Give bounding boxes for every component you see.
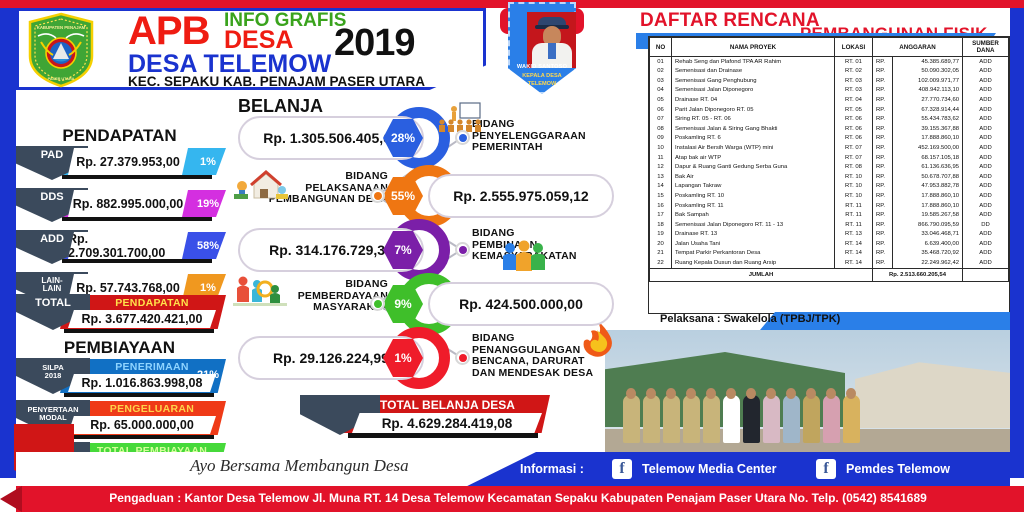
plan-table-row: 08Semenisasi Jalan & Siring Gang BhaktiR…	[650, 124, 1009, 134]
cell-rp: RP.	[873, 115, 893, 125]
staff-photo	[605, 330, 1010, 455]
cell-sumber: ADD	[963, 95, 1009, 105]
plan-table-row: 06Parit Jalan Diponegoro RT. 05RT. 05RP.…	[650, 105, 1009, 115]
total-shadow	[64, 329, 214, 333]
cell-no: 02	[650, 67, 672, 77]
cell-anggaran: 17.888.860,10	[893, 191, 963, 201]
cell-sumber: ADD	[963, 191, 1009, 201]
belanja-title: BELANJA	[238, 96, 323, 117]
photo-person-head	[766, 388, 776, 399]
village-head-role-line2: TELEMOW	[500, 80, 584, 88]
cell-sumber: ADD	[963, 211, 1009, 221]
cell-nama: Drainase RT. 04	[672, 95, 835, 105]
plan-table-row: 05Drainase RT. 04RT. 04RP.27.770.734,60A…	[650, 95, 1009, 105]
pendapatan-total-row: TOTALPENDAPATANRp. 3.677.420.421,00	[16, 294, 226, 334]
plan-table-row: 02Semenisasi dan DrainaseRT. 02RP.50.090…	[650, 67, 1009, 77]
cell-lokasi: RT. 02	[835, 67, 873, 77]
total-value: Rp. 3.677.420.421,00	[68, 310, 216, 328]
cell-no: 07	[650, 115, 672, 125]
cell-lokasi: RT. 10	[835, 191, 873, 201]
plan-table-row: 13Bak AirRT. 10RP.50.678.707,88ADD	[650, 172, 1009, 182]
cell-anggaran: 55.434.783,62	[893, 115, 963, 125]
plan-table-sum-row: JUMLAHRp. 2.513.660.205,54	[650, 269, 1009, 282]
plan-table-row: 10Instalasi Air Bersih Warga (WTP) miniR…	[650, 143, 1009, 153]
col-lokasi: LOKASI	[835, 38, 873, 57]
cell-no: 10	[650, 143, 672, 153]
cell-lokasi: RT. 01	[835, 57, 873, 67]
belanja-label: BIDANGPENYELENGGARAANPEMERINTAH	[472, 119, 612, 154]
cell-no: 21	[650, 249, 672, 259]
photo-person-head	[746, 388, 756, 399]
cell-sumber: ADD	[963, 182, 1009, 192]
cell-sumber: ADD	[963, 230, 1009, 240]
left-blue-border	[0, 8, 16, 478]
cell-no: 04	[650, 86, 672, 96]
cell-rp: RP.	[873, 95, 893, 105]
photo-person	[743, 395, 760, 443]
cell-anggaran: 102.009.971,77	[893, 76, 963, 86]
cell-nama: Ruang Kepala Dusun dan Ruang Arsip	[672, 258, 835, 268]
cell-anggaran: 50.090.302,05	[893, 67, 963, 77]
plan-table-row: 04Semenisasi Jalan DiponegoroRT. 03RP.40…	[650, 86, 1009, 96]
cell-nama: Rehab Seng dan Plafond TPA AR Rahim	[672, 57, 835, 67]
cell-nama: Siring RT. 05 - RT. 06	[672, 115, 835, 125]
plan-table-row: 01Rehab Seng dan Plafond TPA AR RahimRT.…	[650, 57, 1009, 67]
village-head-role: KEPALA DESA TELEMOW	[500, 72, 584, 88]
total-belanja-banner: TOTAL BELANJA DESA Rp. 4.629.284.419,08	[300, 395, 550, 441]
photo-person	[843, 395, 860, 443]
cell-lokasi: RT. 11	[835, 211, 873, 221]
cell-sumber: ADD	[963, 249, 1009, 259]
cell-anggaran: 67.328.914,44	[893, 105, 963, 115]
plan-table-body: 01Rehab Seng dan Plafond TPA AR RahimRT.…	[650, 57, 1009, 282]
cell-rp: RP.	[873, 105, 893, 115]
plan-table-row: 03Semenisasi Gang PenghubungRT. 03RP.102…	[650, 76, 1009, 86]
cell-anggaran: 35.468.720,92	[893, 249, 963, 259]
title-group: APB INFO GRAFIS DESA 2019 DESA TELEMOW K…	[108, 8, 483, 88]
cell-nama: Lapangan Takraw	[672, 182, 835, 192]
facebook-page-2[interactable]: Pemdes Telemow	[846, 462, 950, 476]
title-apb: APB	[128, 9, 209, 54]
cell-lokasi: RT. 07	[835, 153, 873, 163]
cell-no: 05	[650, 95, 672, 105]
cell-nama: Atap bak air WTP	[672, 153, 835, 163]
cell-lokasi: RT. 10	[835, 182, 873, 192]
cell-rp: RP.	[873, 201, 893, 211]
photo-person-head	[786, 388, 796, 399]
photo-person-head	[826, 388, 836, 399]
cell-lokasi: RT. 06	[835, 124, 873, 134]
cell-no: 22	[650, 258, 672, 268]
plan-table-row: 21Tempat Parkir Perkantoran DesaRT. 14RP…	[650, 249, 1009, 259]
cell-sumber: ADD	[963, 143, 1009, 153]
cell-sumber: ADD	[963, 163, 1009, 173]
cell-no: 12	[650, 163, 672, 173]
cell-anggaran: 866.790.095,59	[893, 220, 963, 230]
title-year: 2019	[334, 22, 415, 65]
total-belanja-shadow	[348, 433, 538, 438]
cell-lokasi: RT. 07	[835, 143, 873, 153]
photo-person	[803, 395, 820, 443]
infographic-page: KABUPATEN PENAJAM PASER UTARA APB INFO G…	[0, 0, 1024, 512]
plan-table-row: 12Dapur & Ruang Ganti Gedung Serba GunaR…	[650, 163, 1009, 173]
right-blue-border	[1010, 8, 1024, 478]
photo-person-head	[666, 388, 676, 399]
cell-no: 14	[650, 182, 672, 192]
cell-lokasi: RT. 14	[835, 258, 873, 268]
facebook-icon-2[interactable]: f	[816, 459, 836, 479]
cell-rp: RP.	[873, 182, 893, 192]
plan-table-row: 18Semenisasi Jalan Diponegoro RT. 11 - 1…	[650, 220, 1009, 230]
cell-nama: Dapur & Ruang Ganti Gedung Serba Guna	[672, 163, 835, 173]
cell-anggaran: 50.678.707,88	[893, 172, 963, 182]
cell-lokasi: RT. 11	[835, 220, 873, 230]
cell-rp: RP.	[873, 258, 893, 268]
pendapatan-title: PENDAPATAN	[12, 126, 227, 146]
empowerment-icon	[231, 272, 289, 313]
plan-table-row: 20Jalan Usaha TaniRT. 14RP.6.639.400,00A…	[650, 239, 1009, 249]
cell-nama: Semenisasi Gang Penghubung	[672, 76, 835, 86]
cell-no: 06	[650, 105, 672, 115]
belanja-amount: Rp. 424.500.000,00	[428, 282, 614, 326]
village-head-photo	[527, 12, 577, 68]
facebook-page-1[interactable]: Telemow Media Center	[642, 462, 777, 476]
belanja-node	[455, 130, 470, 145]
village-head-name: WAKID SANTOSO	[500, 64, 584, 70]
plan-table: NO NAMA PROYEK LOKASI ANGGARAN SUMBER DA…	[649, 37, 1009, 282]
sum-label: JUMLAH	[650, 269, 873, 282]
row-shadow	[62, 217, 212, 221]
facebook-icon-1[interactable]: f	[612, 459, 632, 479]
row-percent: 21%	[192, 366, 224, 384]
cell-rp: RP.	[873, 230, 893, 240]
photo-person	[723, 395, 740, 443]
svg-text:PASER UTARA: PASER UTARA	[48, 77, 75, 81]
cell-lokasi: RT. 03	[835, 76, 873, 86]
cell-nama: Tempat Parkir Perkantoran Desa	[672, 249, 835, 259]
cell-no: 13	[650, 172, 672, 182]
plan-table-row: 07Siring RT. 05 - RT. 06RT. 06RP.55.434.…	[650, 115, 1009, 125]
cell-lokasi: RT. 04	[835, 95, 873, 105]
cell-anggaran: 17.888.860,10	[893, 134, 963, 144]
belanja-node	[370, 188, 385, 203]
cell-rp: RP.	[873, 191, 893, 201]
cell-no: 11	[650, 153, 672, 163]
construction-icon	[232, 168, 290, 207]
cell-lokasi: RT. 11	[835, 201, 873, 211]
plan-table-row: 09Poskamling RT. 6RT. 06RP.17.888.860,10…	[650, 134, 1009, 144]
cell-rp: RP.	[873, 220, 893, 230]
plan-table-header-row: NO NAMA PROYEK LOKASI ANGGARAN SUMBER DA…	[650, 38, 1009, 57]
cell-nama: Poskamling RT. 10	[672, 191, 835, 201]
cell-rp: RP.	[873, 239, 893, 249]
cell-sumber: ADD	[963, 239, 1009, 249]
belanja-node	[455, 350, 470, 365]
cell-sumber: ADD	[963, 134, 1009, 144]
plan-table-row: 19Drainase RT. 13RT. 13RP.33.046.468,71A…	[650, 230, 1009, 240]
cell-rp: RP.	[873, 153, 893, 163]
row-percent: 1%	[192, 148, 224, 175]
pendapatan-row: PADRp. 27.379.953,001%	[16, 146, 226, 180]
row-value: Rp. 65.000.000,00	[68, 416, 216, 434]
slogan-text: Ayo Bersama Membangun Desa	[190, 456, 409, 476]
cell-sumber: ADD	[963, 172, 1009, 182]
row-value: Rp. 882.995.000,00	[68, 190, 188, 217]
row-shadow	[62, 259, 212, 263]
plan-table-row: 15Poskamling RT. 10RT. 10RP.17.888.860,1…	[650, 191, 1009, 201]
sum-value: Rp. 2.513.660.205,54	[873, 269, 963, 282]
pembiayaan-title: PEMBIAYAAN	[12, 338, 227, 358]
cell-anggaran: 61.136.636,95	[893, 163, 963, 173]
cell-anggaran: 19.585.267,58	[893, 211, 963, 221]
cell-rp: RP.	[873, 211, 893, 221]
cell-anggaran: 68.157.105,18	[893, 153, 963, 163]
pendapatan-row: ADDRp. 2.709.301.700,0058%	[16, 230, 226, 264]
photo-person-head	[626, 388, 636, 399]
plan-table-row: 17Bak SampahRT. 11RP.19.585.267,58ADD	[650, 211, 1009, 221]
cell-nama: Drainase RT. 13	[672, 230, 835, 240]
row-percent: 58%	[192, 232, 224, 259]
cell-anggaran: 47.953.882,78	[893, 182, 963, 192]
row-value: Rp. 2.709.301.700,00	[68, 232, 188, 259]
photo-person-head	[726, 388, 736, 399]
photo-person	[763, 395, 780, 443]
cell-no: 09	[650, 134, 672, 144]
cell-lokasi: RT. 03	[835, 86, 873, 96]
cell-anggaran: 408.942.113,10	[893, 86, 963, 96]
cell-nama: Bak Air	[672, 172, 835, 182]
cell-sumber: ADD	[963, 201, 1009, 211]
photo-person	[663, 395, 680, 443]
cell-lokasi: RT. 08	[835, 163, 873, 173]
cell-rp: RP.	[873, 86, 893, 96]
cell-anggaran: 17.888.860,10	[893, 201, 963, 211]
cell-no: 03	[650, 76, 672, 86]
cell-lokasi: RT. 06	[835, 134, 873, 144]
cell-no: 18	[650, 220, 672, 230]
cell-rp: RP.	[873, 143, 893, 153]
cell-sumber: ADD	[963, 67, 1009, 77]
photo-person	[823, 395, 840, 443]
cell-rp: RP.	[873, 249, 893, 259]
cell-no: 20	[650, 239, 672, 249]
cell-nama: Instalasi Air Bersih Warga (WTP) mini	[672, 143, 835, 153]
plan-table-row: 11Atap bak air WTPRT. 07RP.68.157.105,18…	[650, 153, 1009, 163]
cell-sumber: ADD	[963, 258, 1009, 268]
cell-rp: RP.	[873, 67, 893, 77]
cell-lokasi: RT. 10	[835, 172, 873, 182]
complaint-text: Pengaduan : Kantor Desa Telemow Jl. Muna…	[68, 491, 968, 505]
sum-blank	[963, 269, 1009, 282]
photo-person	[643, 395, 660, 443]
cell-lokasi: RT. 05	[835, 105, 873, 115]
cell-lokasi: RT. 14	[835, 249, 873, 259]
cell-nama: Poskamling RT. 11	[672, 201, 835, 211]
cell-no: 16	[650, 201, 672, 211]
photo-person	[783, 395, 800, 443]
cell-sumber: ADD	[963, 153, 1009, 163]
belanja-amount: Rp. 2.555.975.059,12	[428, 174, 614, 218]
photo-person	[683, 395, 700, 443]
photo-person-head	[686, 388, 696, 399]
col-sumber: SUMBER DANA	[963, 38, 1009, 57]
cell-anggaran: 22.249.962,42	[893, 258, 963, 268]
belanja-node	[455, 242, 470, 257]
cell-no: 17	[650, 211, 672, 221]
plan-table-row: 14Lapangan TakrawRT. 10RP.47.953.882,78A…	[650, 182, 1009, 192]
total-belanja-value: Rp. 4.629.284.419,08	[352, 413, 542, 433]
row-percent: 19%	[192, 190, 224, 217]
cell-anggaran: 33.046.468,71	[893, 230, 963, 240]
cell-sumber: ADD	[963, 86, 1009, 96]
cell-sumber: ADD	[963, 57, 1009, 67]
pelaksana-note: Pelaksana : Swakelola (TPBJ/TPK)	[660, 313, 840, 325]
footer-red-arrow	[0, 486, 22, 512]
cell-rp: RP.	[873, 57, 893, 67]
cell-sumber: ADD	[963, 105, 1009, 115]
cell-anggaran: 452.169.500,00	[893, 143, 963, 153]
total-label: PENDAPATAN	[88, 297, 216, 309]
village-crest-logo: KABUPATEN PENAJAM PASER UTARA	[26, 12, 96, 88]
cell-no: 08	[650, 124, 672, 134]
cell-anggaran: 27.770.734,60	[893, 95, 963, 105]
cell-nama: Semenisasi Jalan Diponegoro RT. 11 - 13	[672, 220, 835, 230]
community-icon	[500, 238, 548, 279]
cell-rp: RP.	[873, 76, 893, 86]
cell-nama: Parit Jalan Diponegoro RT. 05	[672, 105, 835, 115]
pembiayaan-row: SILPA2018PENERIMAANRp. 1.016.863.998,082…	[16, 358, 226, 398]
plan-table-row: 16Poskamling RT. 11RT. 11RP.17.888.860,1…	[650, 201, 1009, 211]
belanja-node	[370, 296, 385, 311]
cell-rp: RP.	[873, 134, 893, 144]
cell-rp: RP.	[873, 163, 893, 173]
info-label: Informasi :	[520, 462, 584, 476]
cell-nama: Semenisasi Jalan Diponegoro	[672, 86, 835, 96]
cell-sumber: ADD	[963, 76, 1009, 86]
svg-text:KABUPATEN PENAJAM: KABUPATEN PENAJAM	[37, 25, 86, 30]
pendapatan-row: DDSRp. 882.995.000,0019%	[16, 188, 226, 222]
cell-rp: RP.	[873, 124, 893, 134]
cell-lokasi: RT. 14	[835, 239, 873, 249]
plan-table-wrapper: NO NAMA PROYEK LOKASI ANGGARAN SUMBER DA…	[648, 36, 1010, 314]
cell-anggaran: 39.155.367,88	[893, 124, 963, 134]
cell-nama: Jalan Usaha Tani	[672, 239, 835, 249]
cell-rp: RP.	[873, 172, 893, 182]
row-shadow	[62, 175, 212, 179]
row-shadow	[64, 393, 214, 397]
cell-no: 19	[650, 230, 672, 240]
total-belanja-label: TOTAL BELANJA DESA	[360, 398, 535, 412]
cell-anggaran: 45.385.689,77	[893, 57, 963, 67]
cell-sumber: DD	[963, 220, 1009, 230]
plan-table-row: 22Ruang Kepala Dusun dan Ruang ArsipRT. …	[650, 258, 1009, 268]
village-head-role-line1: KEPALA DESA	[500, 72, 584, 80]
cell-lokasi: RT. 06	[835, 115, 873, 125]
cell-nama: Poskamling RT. 6	[672, 134, 835, 144]
cell-nama: Bak Sampah	[672, 211, 835, 221]
cell-anggaran: 6.639.400,00	[893, 239, 963, 249]
photo-person-head	[706, 388, 716, 399]
cell-nama: Semenisasi Jalan & Siring Gang Bhakti	[672, 124, 835, 134]
cell-lokasi: RT. 13	[835, 230, 873, 240]
cell-nama: Semenisasi dan Drainase	[672, 67, 835, 77]
photo-person	[703, 395, 720, 443]
col-anggaran: ANGGARAN	[873, 38, 963, 57]
photo-person-head	[846, 388, 856, 399]
row-label: PENGELUARAN	[88, 403, 216, 415]
cell-no: 15	[650, 191, 672, 201]
cell-sumber: ADD	[963, 115, 1009, 125]
cell-no: 01	[650, 57, 672, 67]
row-value: Rp. 27.379.953,00	[68, 148, 188, 175]
photo-person-head	[646, 388, 656, 399]
row-shadow	[64, 435, 214, 439]
photo-person	[623, 395, 640, 443]
photo-person-head	[806, 388, 816, 399]
col-nama: NAMA PROYEK	[672, 38, 835, 57]
village-head-badge: WAKID SANTOSO KEPALA DESA TELEMOW	[500, 2, 584, 102]
col-no: NO	[650, 38, 672, 57]
cell-sumber: ADD	[963, 124, 1009, 134]
plan-title-left: DAFTAR RENCANA	[640, 10, 820, 32]
title-subtitle: KEC. SEPAKU KAB. PENAJAM PASER UTARA	[128, 74, 425, 89]
